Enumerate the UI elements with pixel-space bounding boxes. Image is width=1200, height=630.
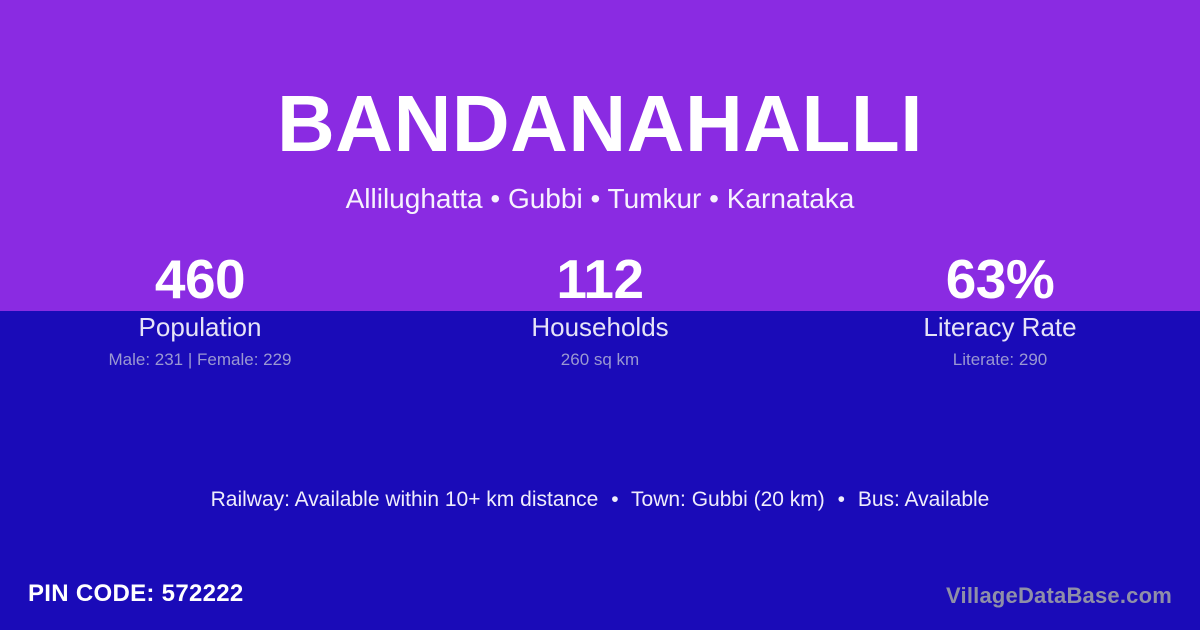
stat-label: Literacy Rate bbox=[800, 312, 1200, 342]
town-info: Town: Gubbi (20 km) bbox=[631, 488, 825, 511]
stat-population: 460 Population Male: 231 | Female: 229 bbox=[0, 248, 400, 370]
stat-literacy-rate: 63% Literacy Rate Literate: 290 bbox=[800, 248, 1200, 370]
stat-sublabel: Literate: 290 bbox=[800, 350, 1200, 370]
page-title: BANDANAHALLI bbox=[0, 84, 1200, 164]
site-brand: VillageDataBase.com bbox=[946, 577, 1172, 615]
stats-row: 460 Population Male: 231 | Female: 229 1… bbox=[0, 248, 1200, 370]
railway-info: Railway: Available within 10+ km distanc… bbox=[211, 488, 599, 511]
footer: PIN CODE: 572222 VillageDataBase.com bbox=[0, 575, 1200, 620]
stat-label: Households bbox=[400, 312, 800, 342]
stat-sublabel: 260 sq km bbox=[400, 350, 800, 370]
bus-info: Bus: Available bbox=[858, 488, 990, 511]
village-info-card: BANDANAHALLI Allilughatta • Gubbi • Tumk… bbox=[0, 0, 1200, 630]
stat-households: 112 Households 260 sq km bbox=[400, 248, 800, 370]
stat-sublabel: Male: 231 | Female: 229 bbox=[0, 350, 400, 370]
stat-value: 63% bbox=[800, 248, 1200, 310]
bullet-separator-icon: • bbox=[604, 487, 625, 513]
stat-label: Population bbox=[0, 312, 400, 342]
stat-value: 112 bbox=[400, 248, 800, 310]
amenities-info-line: Railway: Available within 10+ km distanc… bbox=[0, 487, 1200, 513]
breadcrumb-location: Allilughatta • Gubbi • Tumkur • Karnatak… bbox=[0, 183, 1200, 215]
bullet-separator-icon: • bbox=[831, 487, 852, 513]
pin-code: PIN CODE: 572222 bbox=[28, 575, 244, 613]
stat-value: 460 bbox=[0, 248, 400, 310]
